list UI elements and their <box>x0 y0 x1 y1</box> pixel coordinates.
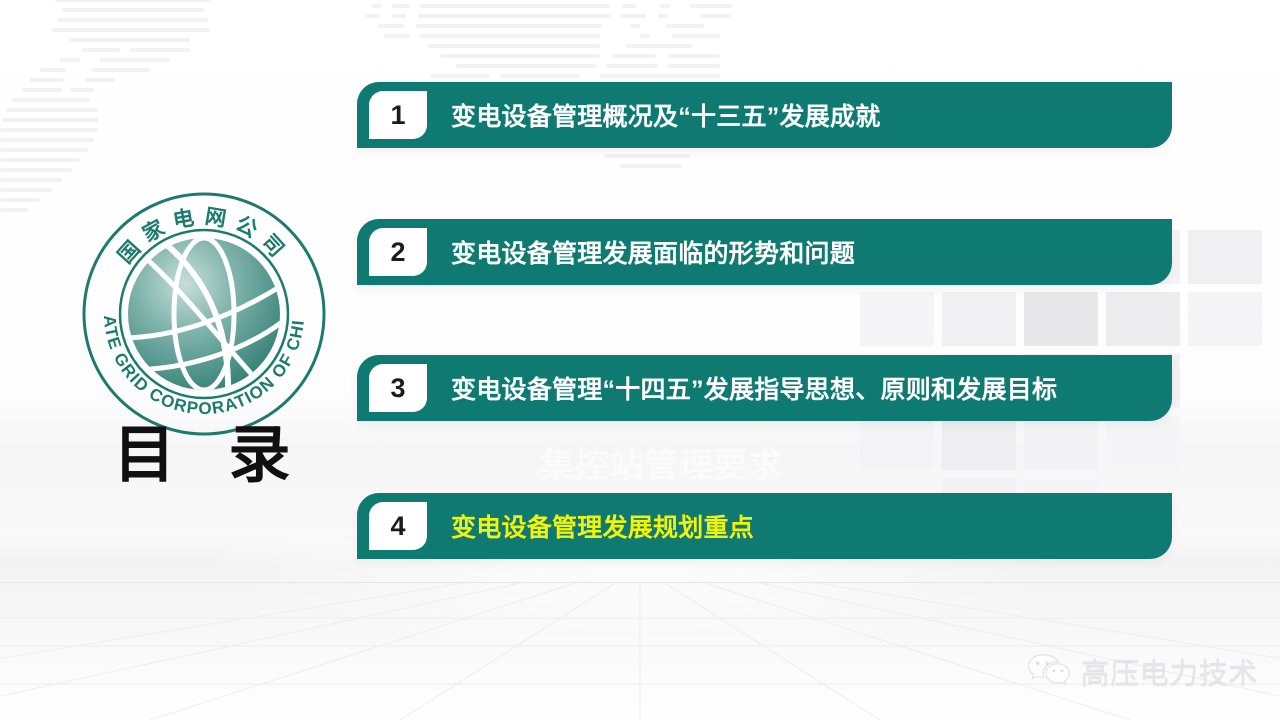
watermark-text: 高压电力技术 <box>1081 650 1258 692</box>
wechat-icon <box>1027 652 1071 690</box>
agenda-item-1[interactable]: 1 变电设备管理概况及“十三五”发展成就 <box>357 82 1172 148</box>
state-grid-logo: 国家电网公司 STATE GRID CORPORATION OF CHINA <box>78 188 330 440</box>
agenda-label-1: 变电设备管理概况及“十三五”发展成就 <box>451 97 1172 133</box>
agenda-number-1: 1 <box>369 91 427 139</box>
agenda-number-3: 3 <box>369 364 427 412</box>
agenda-number-2: 2 <box>369 228 427 276</box>
agenda-label-2: 变电设备管理发展面临的形势和问题 <box>451 234 1172 270</box>
watermark: 高压电力技术 <box>1027 650 1258 692</box>
page-title: 目 录 <box>85 425 325 487</box>
agenda-item-3[interactable]: 3 变电设备管理“十四五”发展指导思想、原则和发展目标 <box>357 355 1172 421</box>
presentation-slide: 国家电网公司 STATE GRID CORPORATION OF CHINA 目… <box>0 0 1280 720</box>
agenda-item-2[interactable]: 2 变电设备管理发展面临的形势和问题 <box>357 219 1172 285</box>
agenda-item-4[interactable]: 4 变电设备管理发展规划重点 <box>357 493 1172 559</box>
agenda-label-4: 变电设备管理发展规划重点 <box>451 508 1172 544</box>
agenda-list: 1 变电设备管理概况及“十三五”发展成就 2 变电设备管理发展面临的形势和问题 … <box>357 0 1172 720</box>
agenda-label-3: 变电设备管理“十四五”发展指导思想、原则和发展目标 <box>451 370 1172 406</box>
agenda-number-4: 4 <box>369 502 427 550</box>
